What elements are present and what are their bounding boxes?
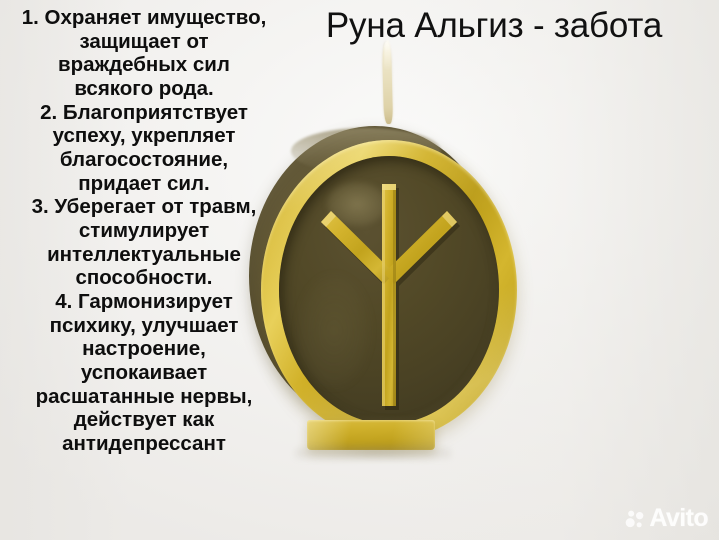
description-line: 3. Уберегает от травм,: [0, 195, 288, 219]
description-line: интеллектуальные: [0, 243, 288, 267]
candle-contact-shadow: [295, 446, 451, 460]
description-line: 1. Охраняет имущество,: [0, 6, 288, 30]
page-title: Руна Альгиз - забота: [275, 8, 713, 45]
description-line: антидепрессант: [0, 432, 288, 456]
description-line: благосостояние,: [0, 148, 288, 172]
product-photo-canvas: Руна Альгиз - забота 1. Охраняет имущест…: [0, 0, 719, 540]
avito-watermark-label: Avito: [649, 506, 708, 531]
avito-dots-logo-icon: [625, 509, 645, 529]
description-line: враждебных сил: [0, 53, 288, 77]
description-line: всякого рода.: [0, 77, 288, 101]
description-line: расшатанные нервы,: [0, 385, 288, 409]
description-line: психику, улучшает: [0, 314, 288, 338]
description-line: 4. Гармонизирует: [0, 290, 288, 314]
wax-face-sheen-secondary: [299, 276, 369, 386]
wax-face-sheen: [327, 182, 387, 226]
description-line: успеху, укрепляет: [0, 124, 288, 148]
description-line: 2. Благоприятствует: [0, 101, 288, 125]
description-line: стимулирует: [0, 219, 288, 243]
description-line: успокаивает: [0, 361, 288, 385]
description-line: придает сил.: [0, 172, 288, 196]
olive-wax-face: [279, 156, 499, 424]
description-line: способности.: [0, 266, 288, 290]
description-line: действует как: [0, 408, 288, 432]
avito-watermark: Avito: [625, 506, 708, 531]
rune-description-text: 1. Охраняет имущество,защищает отвраждеб…: [0, 6, 288, 456]
description-line: защищает от: [0, 30, 288, 54]
description-line: настроение,: [0, 337, 288, 361]
